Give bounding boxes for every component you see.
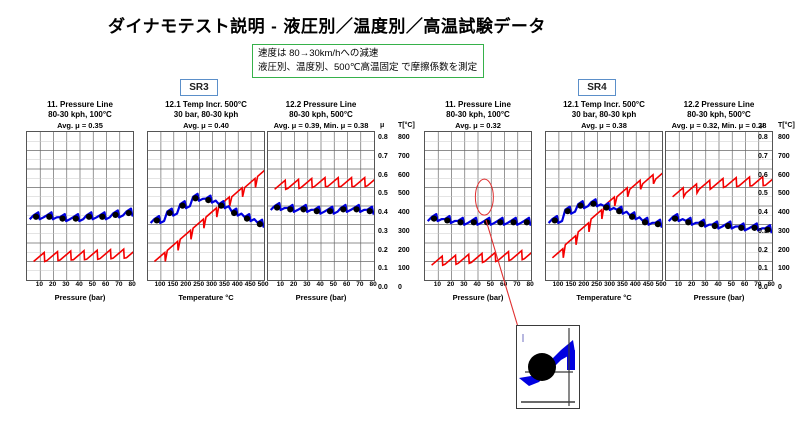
data-point-marker bbox=[616, 208, 622, 214]
data-point-marker bbox=[300, 206, 306, 212]
axis-header-mu: μ bbox=[760, 122, 764, 129]
axis-tick-mu: 0.3 bbox=[378, 228, 388, 235]
data-point-marker bbox=[655, 221, 661, 227]
axis-tick-mu: 0.1 bbox=[758, 265, 768, 272]
axis-tick-temp: 100 bbox=[778, 265, 790, 272]
axis-tick-temp: 400 bbox=[398, 209, 410, 216]
axis-tick-temp: 300 bbox=[398, 228, 410, 235]
x-tick-label: 50 bbox=[728, 281, 735, 288]
data-point-marker bbox=[327, 208, 333, 214]
data-point-marker bbox=[33, 214, 39, 220]
x-tick-label: 300 bbox=[604, 281, 615, 288]
data-point-marker bbox=[725, 223, 731, 229]
plot-area-sr3-121 bbox=[147, 131, 265, 281]
right-axis-sr4: μT[°C]0.88000.77000.66000.55000.44000.33… bbox=[758, 122, 800, 292]
axis-tick-mu: 0.6 bbox=[378, 172, 388, 179]
data-point-marker bbox=[698, 221, 704, 227]
data-point-marker bbox=[46, 214, 52, 220]
data-point-marker bbox=[59, 216, 65, 222]
axis-tick-temp: 200 bbox=[398, 247, 410, 254]
plot-area-sr3-122 bbox=[267, 131, 375, 281]
chart-stats: Avg. μ = 0.35 bbox=[26, 120, 134, 131]
data-point-marker bbox=[738, 225, 744, 231]
chart-stats: Avg. μ = 0.32, Min. μ = 0.28 bbox=[665, 120, 773, 131]
data-point-marker bbox=[218, 203, 224, 209]
axis-tick-temp: 0 bbox=[778, 284, 782, 291]
data-point-marker bbox=[590, 201, 596, 207]
axis-tick-mu: 0.7 bbox=[378, 153, 388, 160]
chart-title: 12.1 Temp Incr. 500°C bbox=[147, 100, 265, 110]
x-tick-label: 10 bbox=[675, 281, 682, 288]
data-point-marker bbox=[126, 210, 132, 216]
x-tick-label: 30 bbox=[701, 281, 708, 288]
x-axis-ticks-sr3-121: 100150200250300350400450500 bbox=[147, 281, 265, 292]
plot-svg bbox=[666, 132, 772, 280]
axis-tick-mu: 0.5 bbox=[378, 190, 388, 197]
axis-tick-temp: 0 bbox=[398, 284, 402, 291]
x-axis-title-sr4-122: Pressure (bar) bbox=[665, 293, 773, 302]
data-point-marker bbox=[167, 210, 173, 216]
x-tick-label: 450 bbox=[643, 281, 654, 288]
axis-tick-mu: 0.7 bbox=[758, 153, 768, 160]
page-title-main: ダイナモテスト説明 bbox=[108, 17, 265, 36]
chart-title: 12.1 Temp Incr. 500°C bbox=[545, 100, 663, 110]
axis-tick-mu: 0.1 bbox=[378, 265, 388, 272]
axis-tick-mu: 0.0 bbox=[378, 284, 388, 291]
axis-tick-temp: 600 bbox=[398, 172, 410, 179]
x-tick-label: 250 bbox=[193, 281, 204, 288]
data-point-marker bbox=[685, 219, 691, 225]
note-line-2: 液圧別、温度別、500℃高温固定 で摩擦係数を測定 bbox=[258, 61, 479, 75]
data-point-marker bbox=[287, 206, 293, 212]
chart-header-sr3-11: 11. Pressure Line80-30 kph, 100°CAvg. μ … bbox=[26, 100, 134, 131]
x-tick-label: 30 bbox=[303, 281, 310, 288]
data-point-marker bbox=[112, 212, 118, 218]
x-tick-label: 30 bbox=[62, 281, 69, 288]
data-point-marker bbox=[353, 206, 359, 212]
group-label-sr3: SR3 bbox=[180, 79, 218, 96]
axis-header-temp: T[°C] bbox=[398, 122, 415, 129]
chart-header-sr3-121: 12.1 Temp Incr. 500°C30 bar, 80-30 kphAv… bbox=[147, 100, 265, 131]
data-point-marker bbox=[99, 214, 105, 220]
chart-title: 11. Pressure Line bbox=[26, 100, 134, 110]
x-tick-label: 10 bbox=[434, 281, 441, 288]
plot-area-sr4-122 bbox=[665, 131, 773, 281]
x-tick-label: 20 bbox=[290, 281, 297, 288]
x-axis-ticks-sr4-122: 1020304050607080 bbox=[665, 281, 773, 292]
data-point-marker bbox=[179, 203, 185, 209]
axis-tick-temp: 400 bbox=[778, 209, 790, 216]
axis-tick-temp: 800 bbox=[398, 134, 410, 141]
chart-card-sr3-11: 11. Pressure Line80-30 kph, 100°CAvg. μ … bbox=[26, 100, 134, 302]
x-tick-label: 80 bbox=[370, 281, 377, 288]
axis-tick-temp: 600 bbox=[778, 172, 790, 179]
chart-card-sr3-121: 12.1 Temp Incr. 500°C30 bar, 80-30 kphAv… bbox=[147, 100, 265, 302]
x-tick-label: 70 bbox=[115, 281, 122, 288]
chart-stats: Avg. μ = 0.39, Min. μ = 0.38 bbox=[267, 120, 375, 131]
axis-tick-temp: 800 bbox=[778, 134, 790, 141]
chart-card-sr4-122: 12.2 Pressure Line80-30 kph, 500°CAvg. μ… bbox=[665, 100, 773, 302]
axis-tick-mu: 0.0 bbox=[758, 284, 768, 291]
data-point-marker bbox=[629, 214, 635, 220]
plot-svg bbox=[268, 132, 374, 280]
x-tick-label: 10 bbox=[277, 281, 284, 288]
chart-subtitle: 80-30 kph, 100°C bbox=[424, 110, 532, 120]
page-title-dash: - bbox=[265, 17, 283, 36]
note-callout-box: 速度は 80→30km/hへの減速 液圧別、温度別、500℃高温固定 で摩擦係数… bbox=[252, 44, 484, 78]
x-tick-label: 10 bbox=[36, 281, 43, 288]
page-title-sub: 液圧別／温度別／高温試験データ bbox=[283, 17, 546, 36]
data-point-marker bbox=[192, 195, 198, 201]
chart-stats: Avg. μ = 0.40 bbox=[147, 120, 265, 131]
x-tick-label: 350 bbox=[219, 281, 230, 288]
axis-tick-temp: 500 bbox=[778, 190, 790, 197]
chart-header-sr4-122: 12.2 Pressure Line80-30 kph, 500°CAvg. μ… bbox=[665, 100, 773, 131]
data-point-marker bbox=[231, 210, 237, 216]
note-line-1: 速度は 80→30km/hへの減速 bbox=[258, 47, 479, 61]
x-tick-label: 40 bbox=[76, 281, 83, 288]
chart-subtitle: 80-30 kph, 500°C bbox=[665, 110, 773, 120]
x-tick-label: 60 bbox=[343, 281, 350, 288]
chart-header-sr4-121: 12.1 Temp Incr. 500°C30 bar, 80-30 kphAv… bbox=[545, 100, 663, 131]
axis-tick-mu: 0.6 bbox=[758, 172, 768, 179]
chart-title: 12.2 Pressure Line bbox=[665, 100, 773, 110]
data-point-marker bbox=[205, 197, 211, 203]
chart-subtitle: 80-30 kph, 500°C bbox=[267, 110, 375, 120]
chart-card-sr3-122: 12.2 Pressure Line80-30 kph, 500°CAvg. μ… bbox=[267, 100, 375, 302]
axis-tick-temp: 300 bbox=[778, 228, 790, 235]
group-label-sr4: SR4 bbox=[578, 79, 616, 96]
data-point-marker bbox=[712, 223, 718, 229]
chart-title: 12.2 Pressure Line bbox=[267, 100, 375, 110]
axis-tick-temp: 700 bbox=[778, 153, 790, 160]
x-tick-label: 60 bbox=[102, 281, 109, 288]
x-axis-title-sr3-121: Temperature °C bbox=[147, 293, 265, 302]
plot-svg bbox=[148, 132, 264, 280]
x-tick-label: 40 bbox=[715, 281, 722, 288]
x-tick-label: 20 bbox=[447, 281, 454, 288]
chart-header-sr4-11: 11. Pressure Line80-30 kph, 100°CAvg. μ … bbox=[424, 100, 532, 131]
axis-header-mu: μ bbox=[380, 122, 384, 129]
x-tick-label: 60 bbox=[741, 281, 748, 288]
x-axis-title-sr3-11: Pressure (bar) bbox=[26, 293, 134, 302]
data-point-marker bbox=[340, 206, 346, 212]
x-axis-ticks-sr3-11: 1020304050607080 bbox=[26, 281, 134, 292]
chart-header-sr3-122: 12.2 Pressure Line80-30 kph, 500°CAvg. μ… bbox=[267, 100, 375, 131]
axis-header-temp: T[°C] bbox=[778, 122, 795, 129]
x-tick-label: 300 bbox=[206, 281, 217, 288]
inset-detail-graphic bbox=[517, 326, 579, 408]
data-point-marker bbox=[431, 216, 437, 222]
chart-title: 11. Pressure Line bbox=[424, 100, 532, 110]
x-tick-label: 80 bbox=[129, 281, 136, 288]
x-tick-label: 50 bbox=[89, 281, 96, 288]
x-tick-label: 400 bbox=[232, 281, 243, 288]
axis-tick-mu: 0.4 bbox=[378, 209, 388, 216]
x-tick-label: 20 bbox=[49, 281, 56, 288]
data-point-marker bbox=[577, 203, 583, 209]
x-tick-label: 200 bbox=[180, 281, 191, 288]
chart-subtitle: 30 bar, 80-30 kph bbox=[147, 110, 265, 120]
page-title: ダイナモテスト説明-液圧別／温度別／高温試験データ bbox=[108, 12, 546, 37]
axis-tick-temp: 500 bbox=[398, 190, 410, 197]
data-point-marker bbox=[603, 204, 609, 210]
axis-tick-mu: 0.2 bbox=[758, 247, 768, 254]
chart-stats: Avg. μ = 0.38 bbox=[545, 120, 663, 131]
data-point-marker bbox=[73, 216, 79, 222]
x-tick-label: 70 bbox=[356, 281, 363, 288]
x-tick-label: 20 bbox=[688, 281, 695, 288]
axis-tick-temp: 700 bbox=[398, 153, 410, 160]
x-tick-label: 400 bbox=[630, 281, 641, 288]
axis-tick-temp: 200 bbox=[778, 247, 790, 254]
data-point-marker bbox=[86, 214, 92, 220]
x-tick-label: 450 bbox=[245, 281, 256, 288]
data-point-marker bbox=[672, 216, 678, 222]
plot-svg bbox=[27, 132, 133, 280]
x-axis-ticks-sr3-122: 1020304050607080 bbox=[267, 281, 375, 292]
data-point-marker bbox=[314, 208, 320, 214]
x-tick-label: 100 bbox=[155, 281, 166, 288]
x-tick-label: 40 bbox=[317, 281, 324, 288]
data-point-marker bbox=[274, 204, 280, 210]
x-axis-title-sr3-122: Pressure (bar) bbox=[267, 293, 375, 302]
axis-tick-mu: 0.5 bbox=[758, 190, 768, 197]
axis-tick-mu: 0.2 bbox=[378, 247, 388, 254]
axis-tick-mu: 0.8 bbox=[378, 134, 388, 141]
axis-tick-mu: 0.8 bbox=[758, 134, 768, 141]
right-axis-sr3: μT[°C]0.88000.77000.66000.55000.44000.33… bbox=[378, 122, 420, 292]
axis-tick-temp: 100 bbox=[398, 265, 410, 272]
axis-tick-mu: 0.4 bbox=[758, 209, 768, 216]
chart-stats: Avg. μ = 0.32 bbox=[424, 120, 532, 131]
data-point-marker bbox=[244, 216, 250, 222]
chart-subtitle: 80-30 kph, 100°C bbox=[26, 110, 134, 120]
data-point-marker bbox=[565, 208, 571, 214]
data-point-marker bbox=[444, 217, 450, 223]
inset-detail-zoom bbox=[516, 325, 580, 409]
x-tick-label: 350 bbox=[617, 281, 628, 288]
plot-area-sr3-11 bbox=[26, 131, 134, 281]
data-point-marker bbox=[642, 219, 648, 225]
temperature-series bbox=[34, 249, 133, 262]
x-tick-label: 150 bbox=[167, 281, 178, 288]
data-point-marker bbox=[257, 221, 263, 227]
data-point-marker bbox=[751, 225, 757, 231]
data-point-marker bbox=[154, 217, 160, 223]
x-tick-label: 50 bbox=[330, 281, 337, 288]
chart-subtitle: 30 bar, 80-30 kph bbox=[545, 110, 663, 120]
axis-tick-mu: 0.3 bbox=[758, 228, 768, 235]
data-point-marker bbox=[367, 208, 373, 214]
